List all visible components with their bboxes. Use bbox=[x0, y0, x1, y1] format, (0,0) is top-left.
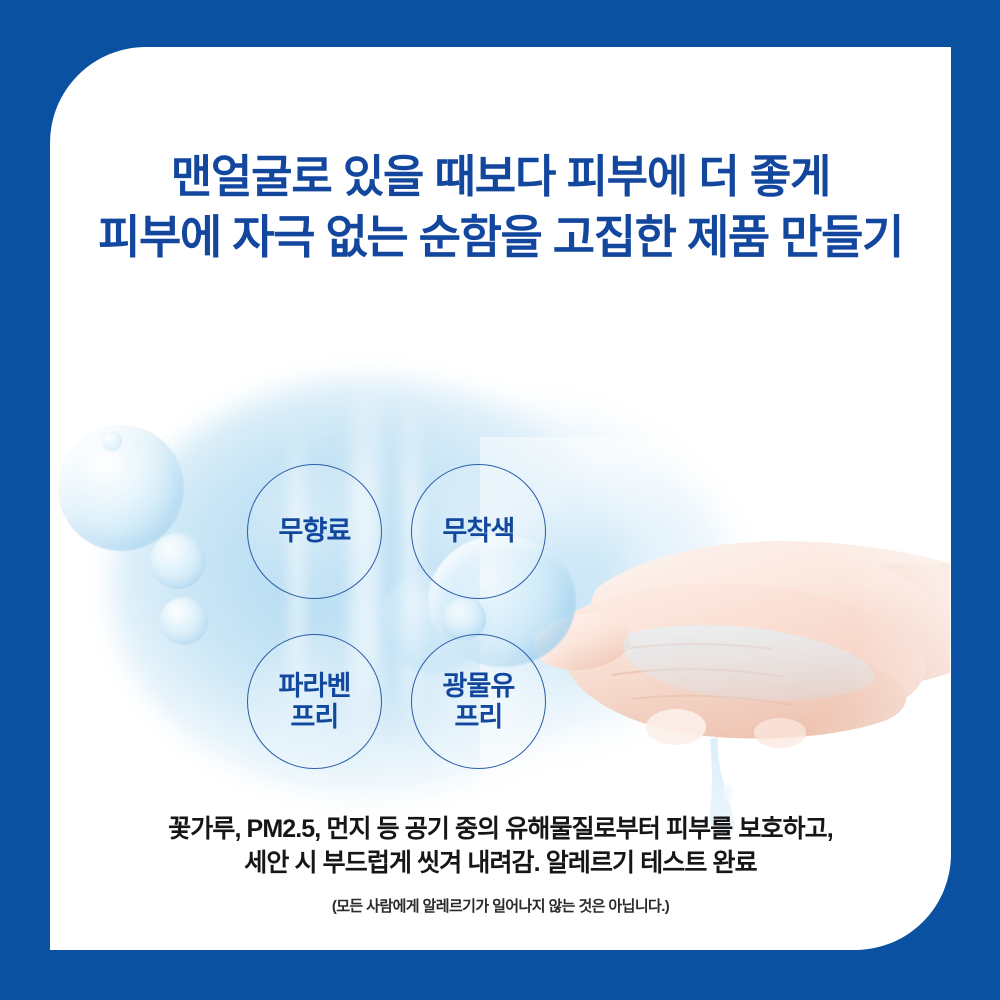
badge-label: 무착색 bbox=[442, 516, 514, 547]
illustration-stage: 무향료 무착색 파라벤 프리 광물유 프리 bbox=[50, 347, 951, 837]
hands-illustration bbox=[480, 437, 950, 837]
badge-label: 무향료 bbox=[278, 516, 350, 547]
body-copy-line-1: 꽃가루, PM2.5, 먼지 등 공기 중의 유해물질로부터 피부를 보호하고, bbox=[50, 812, 951, 846]
badge-colorant-free: 무착색 bbox=[411, 464, 546, 599]
headline-line-2: 피부에 자극 없는 순함을 고집한 제품 만들기 bbox=[50, 207, 951, 267]
poster-frame: 맨얼굴로 있을 때보다 피부에 더 좋게 피부에 자극 없는 순함을 고집한 제… bbox=[0, 0, 1000, 1000]
body-copy-line-2: 세안 시 부드럽게 씻겨 내려감. 알레르기 테스트 완료 bbox=[50, 846, 951, 880]
foam-bubble-icon bbox=[102, 431, 122, 451]
content-card: 맨얼굴로 있을 때보다 피부에 더 좋게 피부에 자극 없는 순함을 고집한 제… bbox=[50, 47, 951, 950]
badge-fragrance-free: 무향료 bbox=[247, 464, 382, 599]
page-title: 맨얼굴로 있을 때보다 피부에 더 좋게 피부에 자극 없는 순함을 고집한 제… bbox=[50, 147, 951, 267]
badge-label: 파라벤 프리 bbox=[278, 671, 350, 733]
badge-mineral-oil-free: 광물유 프리 bbox=[411, 634, 546, 769]
headline-line-1: 맨얼굴로 있을 때보다 피부에 더 좋게 bbox=[50, 147, 951, 207]
body-copy: 꽃가루, PM2.5, 먼지 등 공기 중의 유해물질로부터 피부를 보호하고,… bbox=[50, 812, 951, 880]
badge-label: 광물유 프리 bbox=[442, 671, 514, 733]
foam-bubble-icon bbox=[150, 533, 206, 589]
foam-bubble-icon bbox=[160, 597, 208, 645]
disclaimer-note: (모든 사람에게 알레르기가 일어나지 않는 것은 아닙니다.) bbox=[50, 897, 951, 917]
foam-bubble-icon bbox=[58, 425, 184, 551]
badge-paraben-free: 파라벤 프리 bbox=[247, 634, 382, 769]
